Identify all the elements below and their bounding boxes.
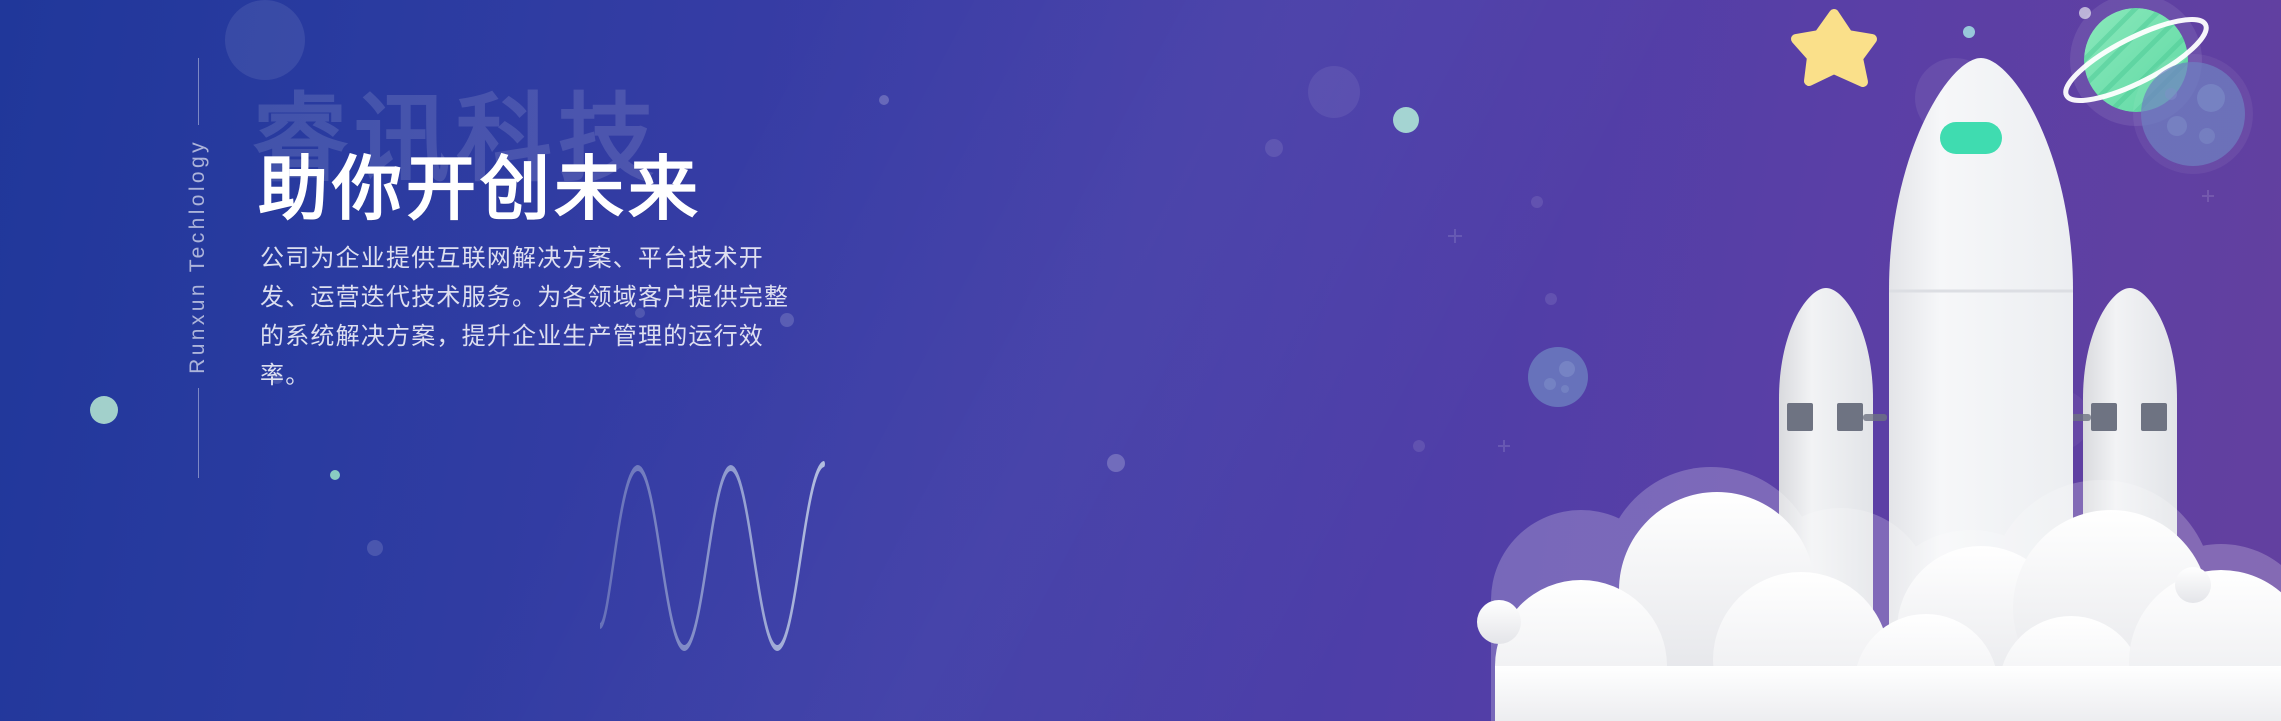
moon xyxy=(2133,54,2253,174)
rocket-illustration xyxy=(1281,0,2281,721)
decor-mint-dot xyxy=(330,470,340,480)
vertical-brand-text: Runxun Techlology xyxy=(186,125,210,388)
sine-wave-decoration xyxy=(600,448,860,678)
decor-faint-dot xyxy=(1107,454,1125,472)
cloud-cluster xyxy=(1477,467,2281,721)
hero-banner: Runxun Techlology 睿讯科技 助你开创未来 公司为企业提供互联网… xyxy=(0,0,2281,721)
decor-soft-circle xyxy=(225,0,305,80)
cloud-bubble xyxy=(1477,600,1521,644)
vertical-rule-top xyxy=(198,58,199,125)
vertical-rule-bottom xyxy=(198,388,199,478)
vertical-brand: Runxun Techlology xyxy=(168,58,228,478)
decor-mint-dot xyxy=(90,396,118,424)
star-icon xyxy=(1796,14,1872,82)
decor-faint-dot xyxy=(879,95,889,105)
hero-description: 公司为企业提供互联网解决方案、平台技术开发、运营迭代技术服务。为各领域客户提供完… xyxy=(260,240,802,396)
page-title: 助你开创未来 xyxy=(258,150,702,228)
decor-faint-dot xyxy=(367,540,383,556)
small-planet xyxy=(1528,347,1588,407)
rocket-window xyxy=(1940,122,2002,154)
cloud-bubble xyxy=(2175,567,2211,603)
